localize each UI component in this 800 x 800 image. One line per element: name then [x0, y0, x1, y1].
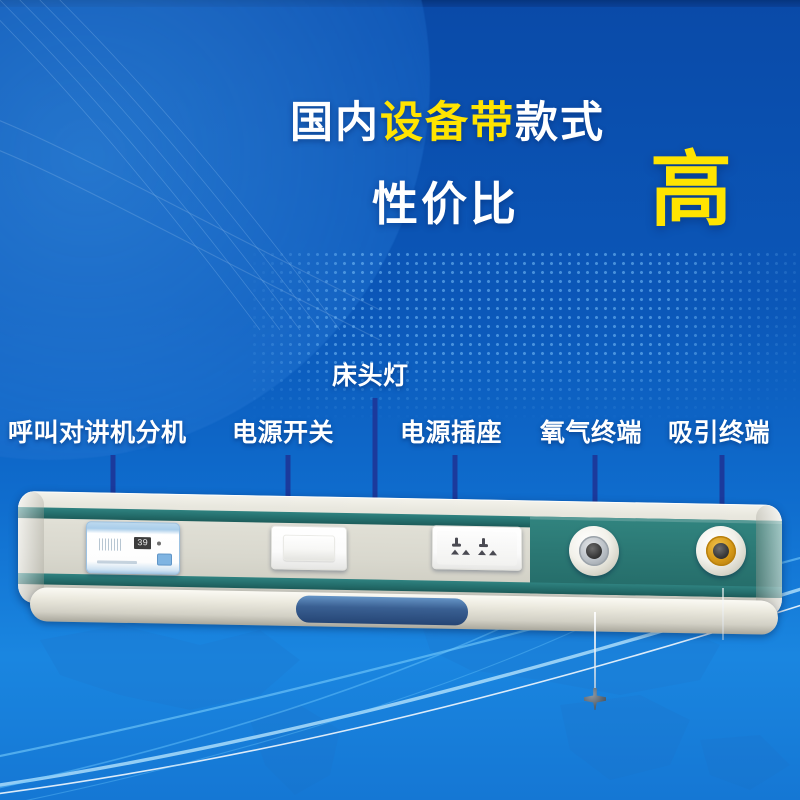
bed-head-unit: 39 [18, 498, 782, 638]
callout-power-switch[interactable]: 电源开关 [232, 413, 334, 449]
callout-nurse-call-intercom[interactable]: 呼叫对讲机分机 [8, 413, 187, 449]
speaker-grille-icon [99, 538, 121, 550]
callout-power-socket[interactable]: 电源插座 [400, 413, 502, 449]
intercom-display: 39 [134, 537, 151, 549]
oxygen-port-core [586, 543, 602, 559]
oxygen-hanging-cord [594, 612, 596, 694]
bed-lamp-diffuser [296, 595, 468, 625]
promo-banner: 国内设备带款式 性价比 高 呼叫对讲机分机 电源开关 床头灯 [0, 0, 800, 800]
intercom-call-button[interactable] [157, 553, 172, 565]
intercom-brand-text [97, 560, 137, 564]
suction-port-core [713, 543, 729, 559]
rocker-switch-button[interactable] [283, 535, 335, 562]
callout-oxygen-terminal[interactable]: 氧气终端 [540, 413, 642, 449]
suction-hanging-cord [722, 588, 724, 640]
suction-terminal-outlet[interactable] [696, 526, 746, 577]
socket-holes-icon [449, 536, 505, 561]
callout-leader-lines [0, 0, 800, 800]
oxygen-terminal-outlet[interactable] [569, 526, 619, 577]
callout-suction-terminal[interactable]: 吸引终端 [668, 413, 770, 449]
nurse-call-intercom-device[interactable]: 39 [86, 521, 180, 575]
power-switch-device[interactable] [271, 525, 347, 570]
status-led-icon [157, 541, 161, 545]
callout-bed-lamp[interactable]: 床头灯 [332, 356, 409, 392]
power-socket-device[interactable] [432, 525, 522, 571]
